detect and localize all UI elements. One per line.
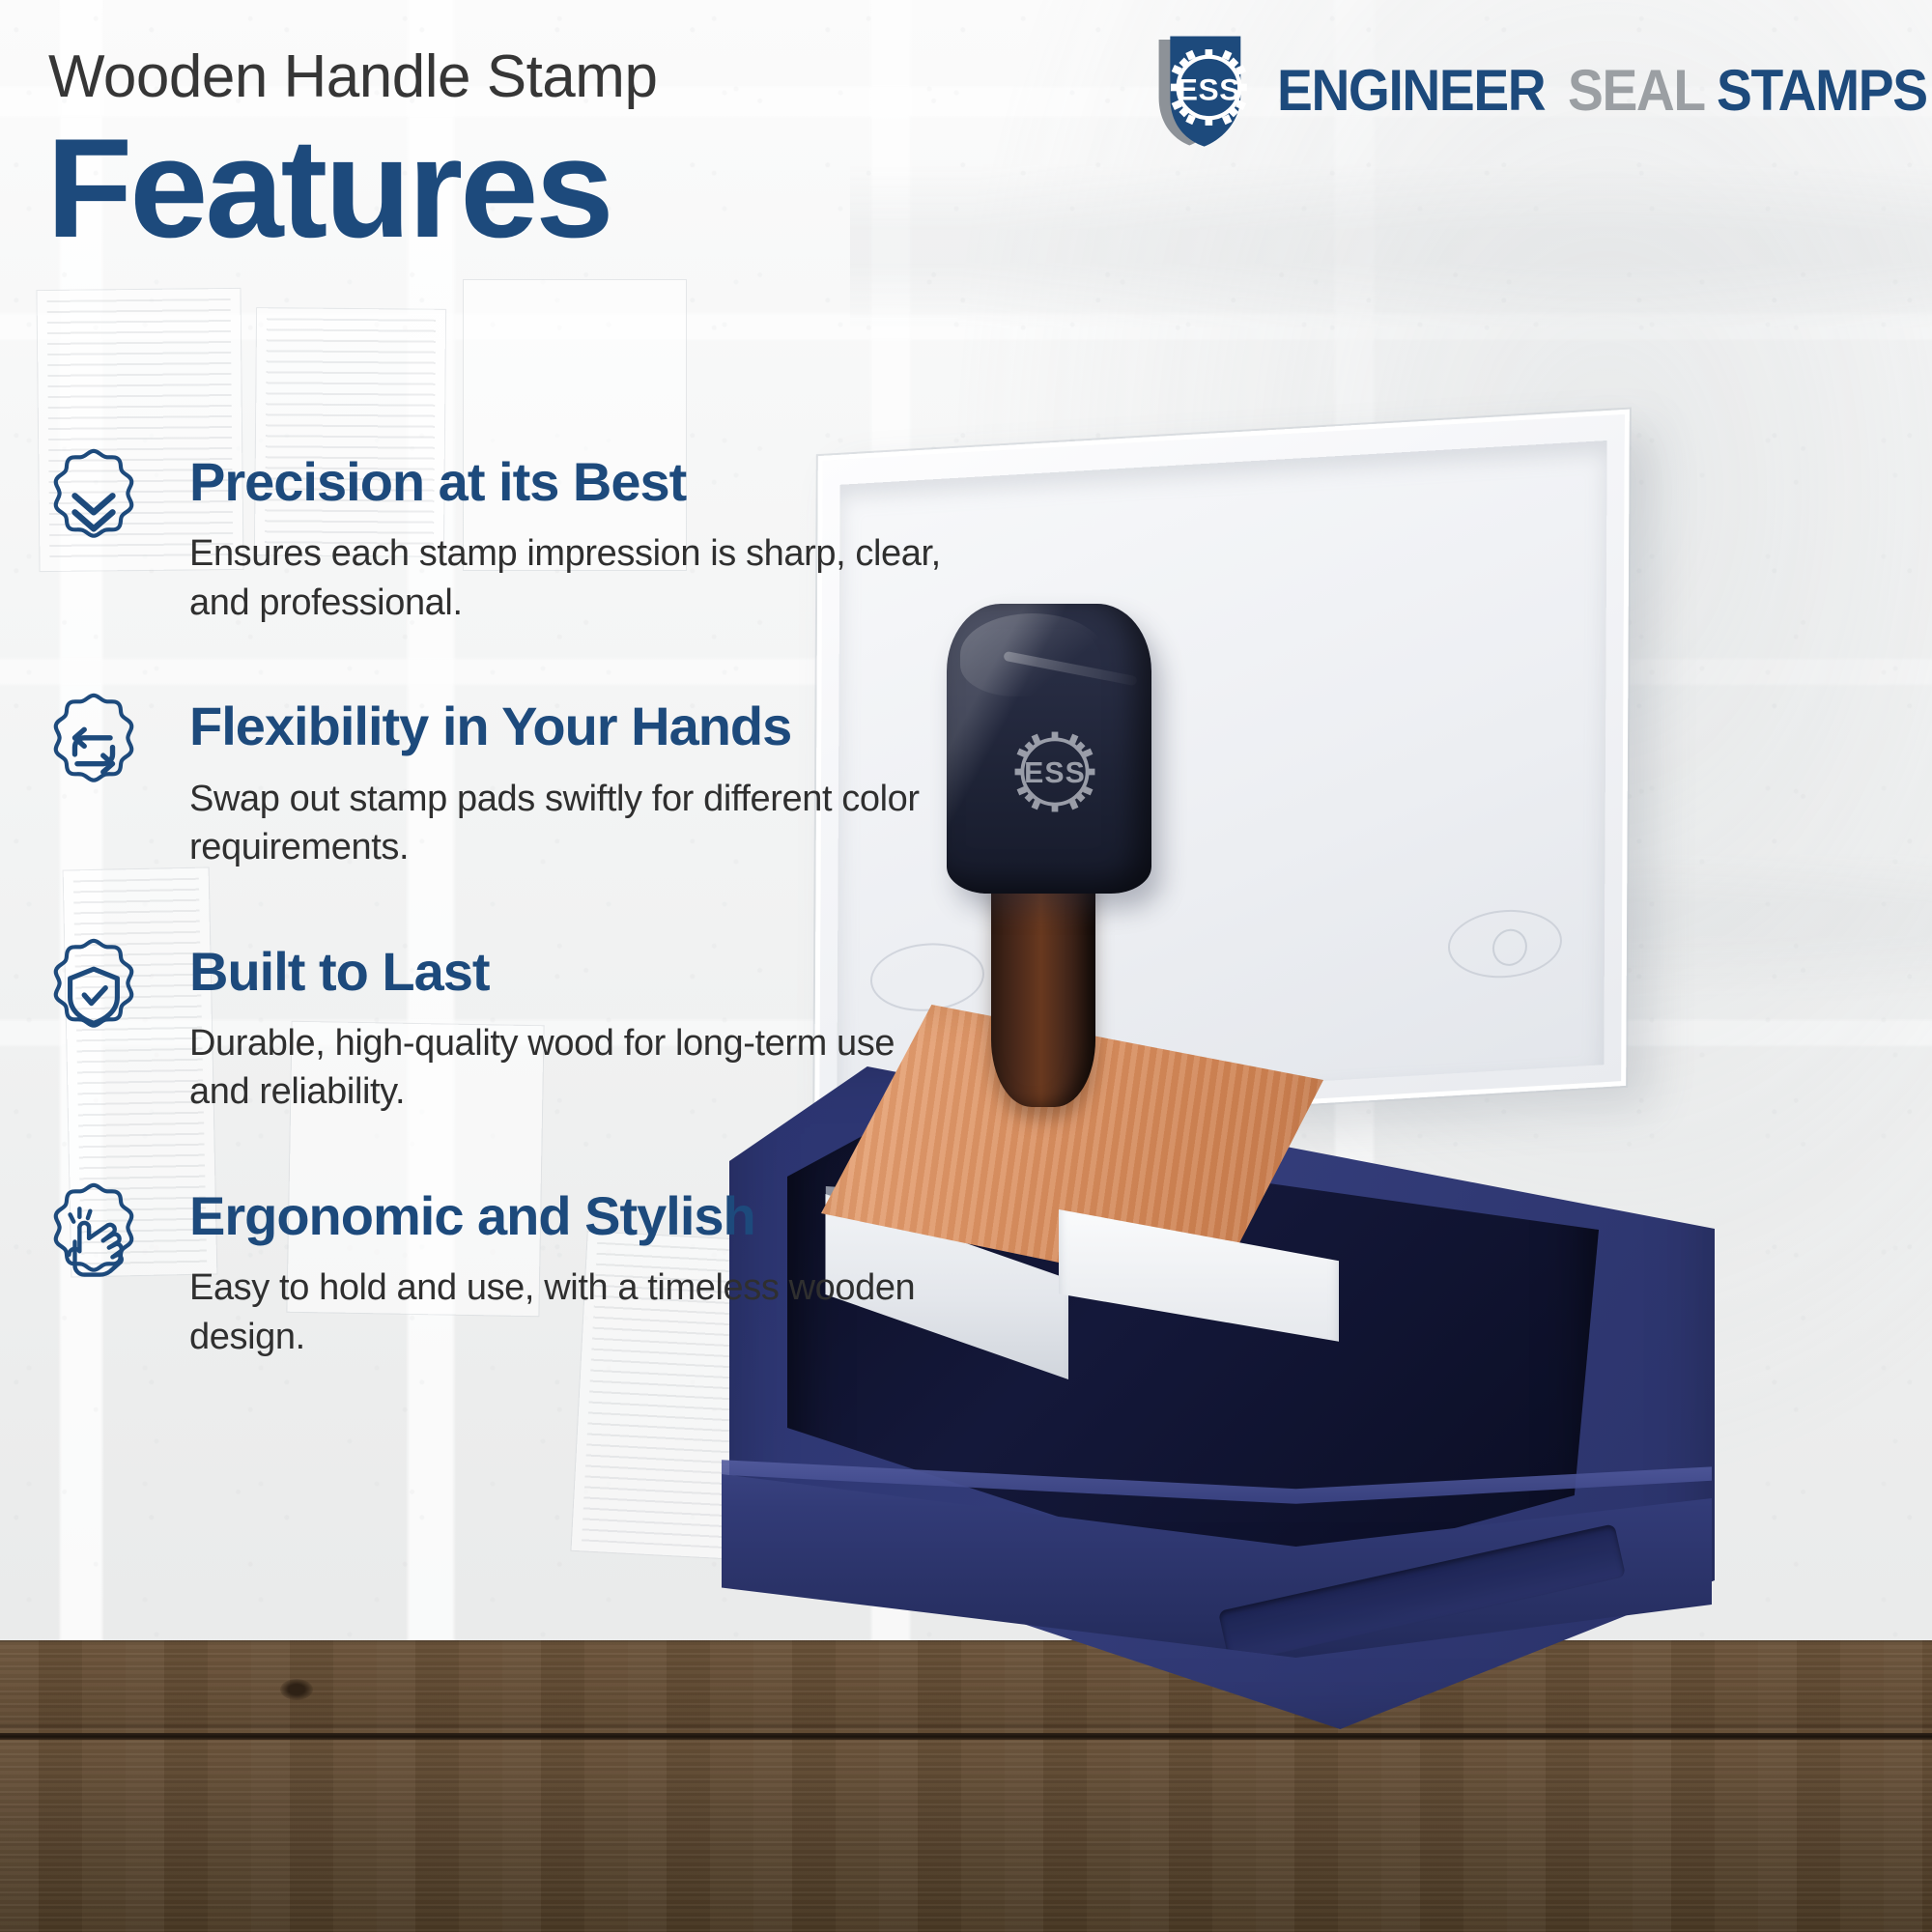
feature-item-flexibility: Flexibility in Your Hands Swap out stamp…	[35, 698, 1010, 871]
feature-description: Ensures each stamp impression is sharp, …	[189, 529, 962, 627]
tap-hand-badge-icon	[35, 1180, 153, 1298]
feature-item-durability: Built to Last Durable, high-quality wood…	[35, 944, 1010, 1117]
feature-item-precision: Precision at its Best Ensures each stamp…	[35, 454, 1010, 627]
feature-title: Built to Last	[189, 944, 1010, 1000]
feature-description: Swap out stamp pads swiftly for differen…	[189, 775, 962, 872]
brand-wordmark: ENGINEER SEAL STAMPS .COM	[1277, 17, 1932, 165]
svg-text:ESS: ESS	[1178, 72, 1240, 107]
poster-canvas: ESS Wooden Handle Stamp Features	[0, 0, 1932, 1932]
shield-check-badge-icon	[35, 936, 153, 1054]
features-list: Precision at its Best Ensures each stamp…	[35, 454, 1010, 1361]
brand-logo[interactable]: ESS ENGINEER SEAL STAMPS .COM	[1150, 17, 1932, 165]
ess-shield-gear-icon: ESS	[1150, 33, 1264, 149]
page-title: Features	[46, 122, 611, 256]
swap-arrows-badge-icon	[35, 691, 153, 809]
stamp-base-front-side	[1059, 1209, 1339, 1393]
svg-text:ESS: ESS	[1024, 757, 1086, 789]
product-photo: ESS	[927, 415, 1932, 1845]
feature-description: Easy to hold and use, with a timeless wo…	[189, 1264, 962, 1361]
page-subtitle: Wooden Handle Stamp	[48, 43, 657, 111]
feature-description: Durable, high-quality wood for long-term…	[189, 1019, 962, 1117]
ess-gear-icon-on-handle: ESS	[1001, 718, 1109, 826]
wood-knot	[280, 1679, 313, 1700]
feature-title: Precision at its Best	[189, 454, 1010, 510]
feature-title: Ergonomic and Stylish	[189, 1188, 1010, 1244]
brand-word-stamps: STAMPS	[1717, 62, 1927, 120]
brand-word-engineer: ENGINEER	[1277, 62, 1545, 120]
lid-emboss-right	[1448, 907, 1562, 981]
brand-word-seal: SEAL	[1568, 62, 1705, 120]
feature-item-ergonomics: Ergonomic and Stylish Easy to hold and u…	[35, 1188, 1010, 1361]
feature-title: Flexibility in Your Hands	[189, 698, 1010, 754]
double-chevron-down-badge-icon	[35, 446, 153, 564]
